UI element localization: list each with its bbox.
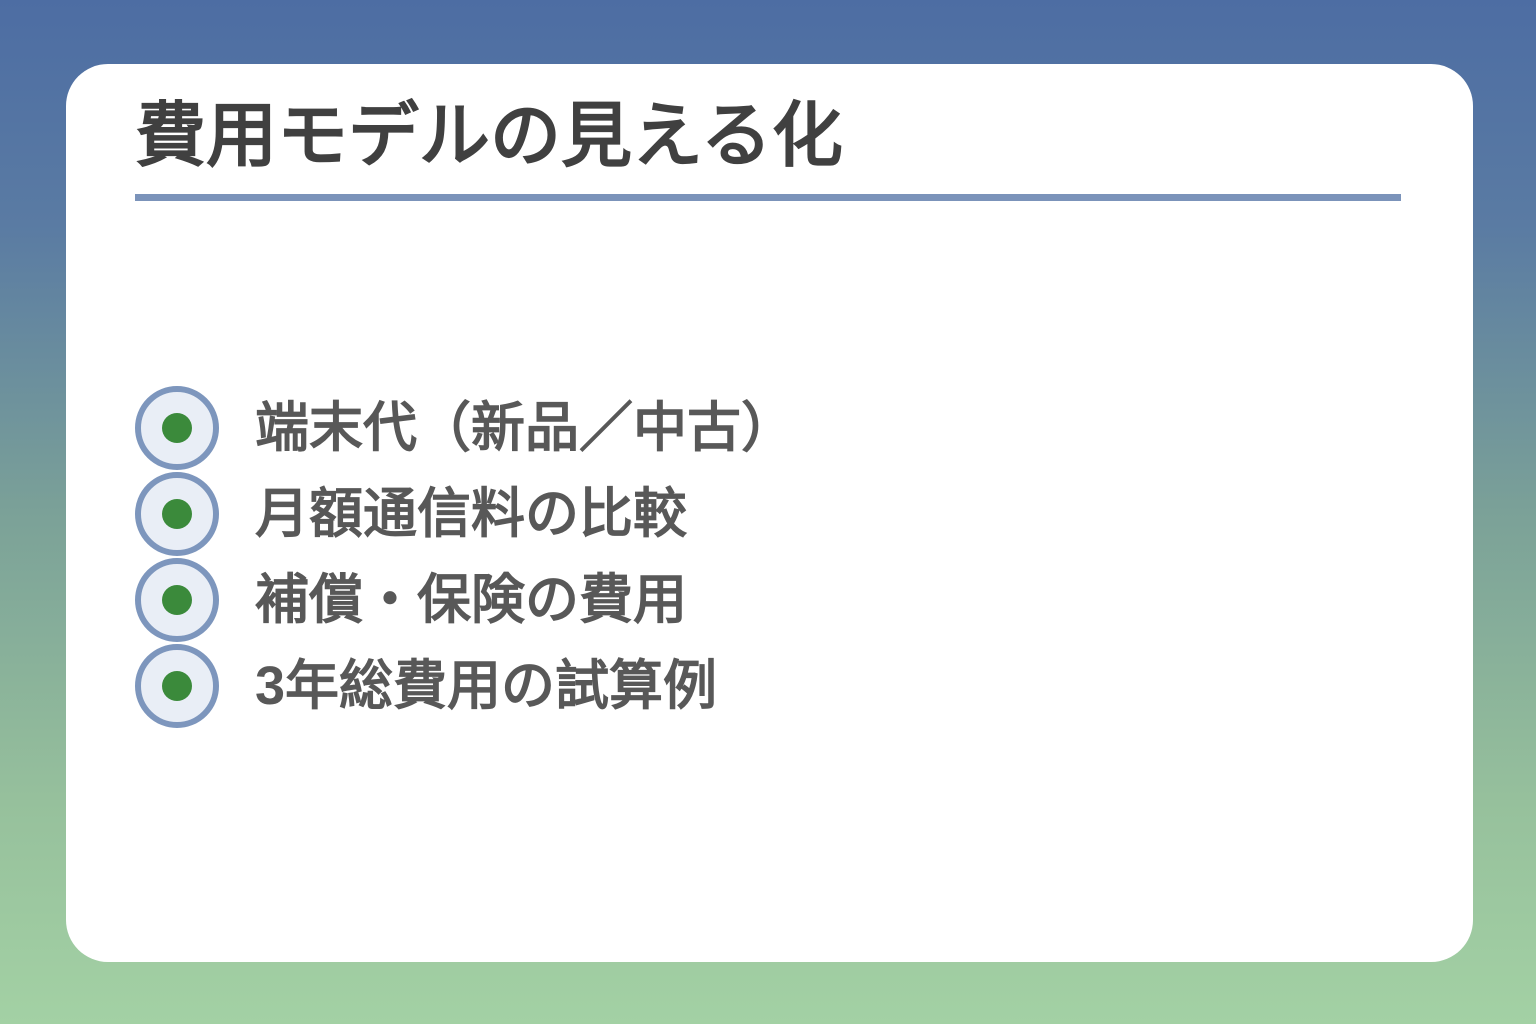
- bullet-item-label: 月額通信料の比較: [255, 486, 687, 543]
- bullet-item-label: 補償・保険の費用: [255, 572, 687, 629]
- filled-circle-bullet-icon: [135, 558, 219, 642]
- title-block: 費用モデルの見える化: [135, 96, 1407, 201]
- bullet-dot-icon: [162, 499, 192, 529]
- list-item: 補償・保険の費用: [135, 557, 1405, 643]
- page-title: 費用モデルの見える化: [135, 96, 1407, 178]
- list-item: 月額通信料の比較: [135, 471, 1405, 557]
- list-item: 端末代（新品／中古）: [135, 385, 1405, 471]
- slide-canvas: 費用モデルの見える化 端末代（新品／中古） 月額通信料の比較 補償: [0, 0, 1536, 1024]
- bullet-dot-icon: [162, 585, 192, 615]
- title-underline-rule: [135, 194, 1401, 201]
- bullet-dot-icon: [162, 671, 192, 701]
- bullet-item-label: 端末代（新品／中古）: [255, 400, 795, 457]
- filled-circle-bullet-icon: [135, 472, 219, 556]
- bullet-dot-icon: [162, 413, 192, 443]
- filled-circle-bullet-icon: [135, 386, 219, 470]
- bullet-list: 端末代（新品／中古） 月額通信料の比較 補償・保険の費用 3年総費用の試算例: [135, 385, 1405, 729]
- bullet-item-label: 3年総費用の試算例: [255, 658, 717, 715]
- list-item: 3年総費用の試算例: [135, 643, 1405, 729]
- filled-circle-bullet-icon: [135, 644, 219, 728]
- slide-card: 費用モデルの見える化 端末代（新品／中古） 月額通信料の比較 補償: [66, 64, 1473, 962]
